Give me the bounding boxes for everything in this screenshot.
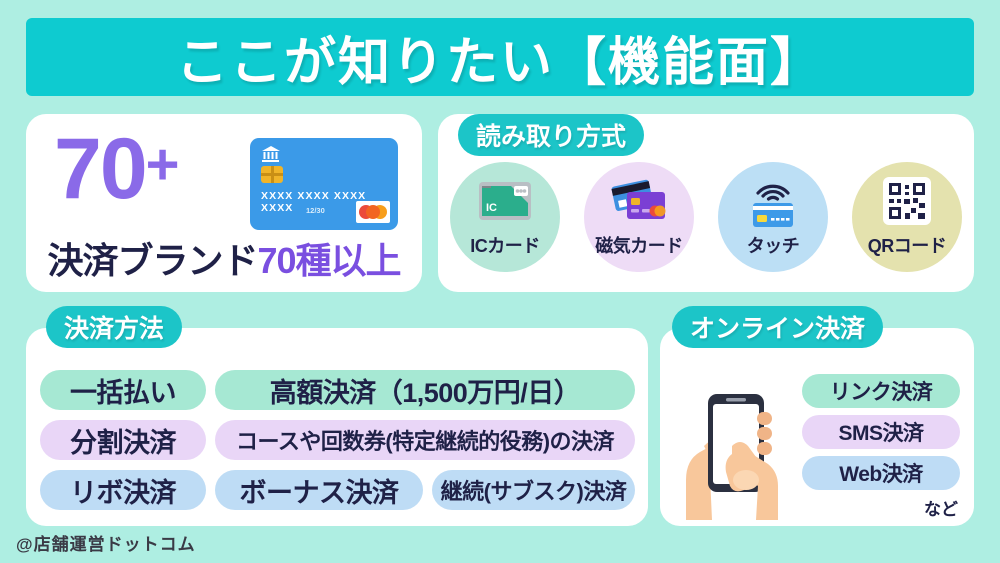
- brand-count: 70+: [54, 126, 178, 212]
- footer-credit: @店舗運営ドットコム: [16, 530, 196, 555]
- online-payment-card: リンク決済 SMS決済 Web決済 など: [660, 328, 974, 526]
- reader-items: IC ICカード: [438, 162, 974, 286]
- payment-pill-subscription[interactable]: 継続(サブスク)決済: [432, 470, 635, 510]
- credit-card-expiry: 12/30: [306, 206, 325, 215]
- brand-count-plus: +: [146, 132, 178, 197]
- payment-pill-installment[interactable]: 分割決済: [40, 420, 206, 460]
- reader-item-touch[interactable]: タッチ: [718, 162, 828, 272]
- payment-pill-high-amount[interactable]: 高額決済（1,500万円/日）: [215, 370, 635, 410]
- brand-count-number: 70: [54, 121, 146, 217]
- payment-pill-course-ticket[interactable]: コースや回数券(特定継続的役務)の決済: [215, 420, 635, 460]
- online-pill-sms-payment[interactable]: SMS決済: [802, 415, 960, 449]
- title-banner: ここが知りたい【機能面】: [26, 18, 974, 96]
- payment-pill-revolving[interactable]: リボ決済: [40, 470, 206, 510]
- chip-icon: [261, 166, 283, 183]
- page-title: ここが知りたい【機能面】: [176, 20, 824, 95]
- payment-pill-lump-sum[interactable]: 一括払い: [40, 370, 206, 410]
- payment-row: リボ決済 ボーナス決済 継続(サブスク)決済: [40, 470, 636, 510]
- reader-item-qr-code[interactable]: QRコード: [852, 162, 962, 272]
- online-pill-link-payment[interactable]: リンク決済: [802, 374, 960, 408]
- brand-caption-prefix: 決済ブランド: [47, 240, 257, 281]
- online-section-badge: オンライン決済: [672, 306, 883, 348]
- payment-pill-bonus[interactable]: ボーナス決済: [215, 470, 423, 510]
- reader-label: QRコード: [868, 232, 947, 258]
- payment-section-badge: 決済方法: [46, 306, 182, 348]
- reader-item-magnetic-card[interactable]: 磁気カード: [584, 162, 694, 272]
- magnetic-card-icon: [610, 170, 668, 232]
- reader-label: ICカード: [470, 232, 540, 258]
- hands-holding-smartphone-illustration: [660, 368, 802, 526]
- payment-brands-card: 70+ XXXX XXXX XXXX XXXX 12/30 決済ブランド70種以…: [26, 114, 422, 292]
- brand-caption-highlight: 70種以上: [257, 240, 400, 281]
- ic-card-icon: IC: [478, 170, 532, 232]
- credit-card-illustration: XXXX XXXX XXXX XXXX 12/30: [250, 138, 398, 230]
- mastercard-logo: [356, 201, 390, 223]
- reader-label: 磁気カード: [595, 232, 683, 258]
- online-pill-web-payment[interactable]: Web決済: [802, 456, 960, 490]
- reader-section-badge: 読み取り方式: [458, 114, 644, 156]
- svg-text:IC: IC: [486, 202, 497, 214]
- reader-item-ic-card[interactable]: IC ICカード: [450, 162, 560, 272]
- nfc-touch-icon: [746, 170, 800, 232]
- online-etc-label: など: [924, 495, 958, 520]
- qr-code-icon: [883, 170, 931, 232]
- payment-methods-card: 一括払い 高額決済（1,500万円/日） 分割決済 コースや回数券(特定継続的役…: [26, 328, 648, 526]
- bank-icon: [261, 145, 281, 167]
- brand-caption: 決済ブランド70種以上: [40, 232, 408, 284]
- reader-label: タッチ: [747, 232, 800, 258]
- payment-row: 一括払い 高額決済（1,500万円/日）: [40, 370, 636, 410]
- payment-pill-grid: 一括払い 高額決済（1,500万円/日） 分割決済 コースや回数券(特定継続的役…: [40, 370, 636, 510]
- payment-row: 分割決済 コースや回数券(特定継続的役務)の決済: [40, 420, 636, 460]
